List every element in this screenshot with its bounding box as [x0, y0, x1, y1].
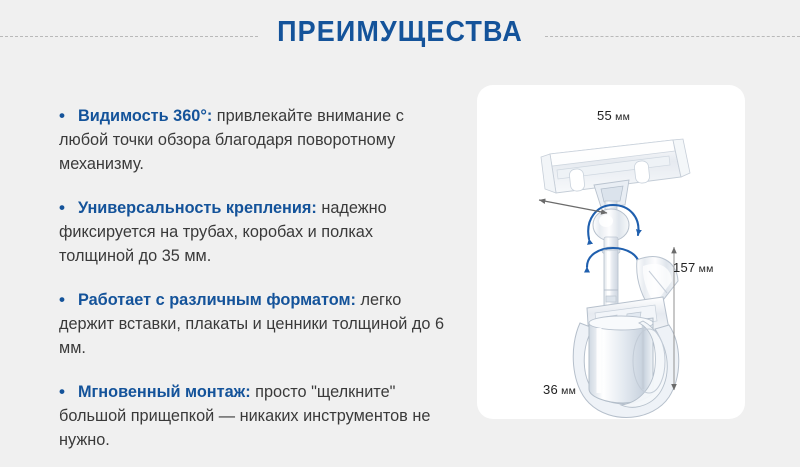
dimension-unit: мм [615, 111, 630, 123]
product-stage [477, 85, 745, 419]
benefit-item: •Работает с различным форматом: легко де… [59, 288, 447, 361]
dimension-label-height: 157мм [673, 259, 714, 277]
bullet-icon: • [59, 290, 65, 309]
bullet-icon: • [59, 106, 65, 125]
bullet-icon: • [59, 198, 65, 217]
dimension-unit: мм [699, 263, 714, 275]
bullet-icon: • [59, 382, 65, 401]
dimension-unit: мм [561, 385, 576, 397]
benefit-lead: Мгновенный монтаж: [78, 383, 251, 401]
product-image-panel [477, 85, 745, 419]
benefit-item: •Видимость 360°: привлекайте внимание с … [59, 104, 447, 177]
dimension-value: 157 [673, 260, 696, 275]
slide-root: ПРЕИМУЩЕСТВА •Видимость 360°: привлекайт… [0, 0, 800, 467]
dimension-label-width-top: 55мм [597, 107, 630, 125]
dimension-arrows [477, 85, 745, 419]
benefit-lead: Универсальность крепления: [78, 199, 317, 217]
benefits-list: •Видимость 360°: привлекайте внимание с … [59, 88, 447, 453]
slide-header: ПРЕИМУЩЕСТВА [0, 0, 800, 72]
dimension-value: 36 [543, 382, 558, 397]
benefit-lead: Видимость 360°: [78, 107, 212, 125]
page-title: ПРЕИМУЩЕСТВА [28, 16, 772, 49]
dimension-label-clamp-width: 36мм [543, 381, 576, 399]
benefit-lead: Работает с различным форматом: [78, 291, 356, 309]
benefit-item: •Универсальность крепления: надежно фикс… [59, 196, 447, 269]
benefit-item: •Мгновенный монтаж: просто "щелкните" бо… [59, 380, 447, 453]
dimension-value: 55 [597, 108, 612, 123]
